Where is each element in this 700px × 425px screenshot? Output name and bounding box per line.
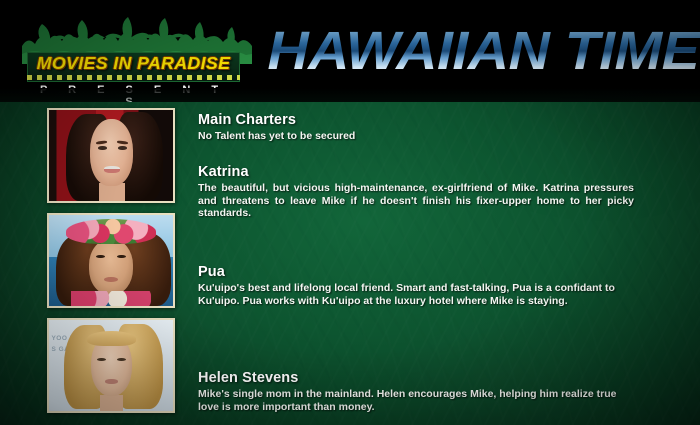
movie-title: HAWAIIAN TIME <box>248 18 700 84</box>
helen-stevens-photo-image: YOO IGN S GAT <box>49 320 173 411</box>
katrina-photo[interactable] <box>47 108 175 203</box>
movie-pitch-page: MOVIES IN PARADISE P R E S E N T S HAWAI… <box>0 0 700 425</box>
header-banner: MOVIES IN PARADISE P R E S E N T S HAWAI… <box>0 0 700 102</box>
character-name: Pua <box>198 264 618 281</box>
character-name: Helen Stevens <box>198 370 628 387</box>
character-name: Main Charters <box>198 112 634 129</box>
character-description: No Talent has yet to be secured <box>198 130 634 143</box>
film-strip-perforations-icon <box>27 75 240 80</box>
photo-column: YOO IGN S GAT <box>47 108 175 423</box>
flower-crown-icon <box>66 219 155 244</box>
katrina-photo-image <box>49 110 173 201</box>
character-description: Mike's single mom in the mainland. Helen… <box>198 388 628 413</box>
character-description: Ku'uipo's best and lifelong local friend… <box>198 282 618 307</box>
movies-in-paradise-logo[interactable]: MOVIES IN PARADISE <box>27 52 240 82</box>
character-name: Katrina <box>198 164 634 181</box>
character-block-katrina: Katrina The beautiful, but vicious high-… <box>198 164 634 220</box>
pua-photo-image <box>49 215 173 306</box>
header-fade <box>0 88 700 102</box>
character-block-helen-stevens: Helen Stevens Mike's single mom in the m… <box>198 370 628 413</box>
lei-icon <box>71 291 150 306</box>
character-block-main-charters: Main Charters No Talent has yet to be se… <box>198 112 634 143</box>
character-description: The beautiful, but vicious high-maintena… <box>198 182 634 220</box>
pua-photo[interactable] <box>47 213 175 308</box>
character-block-pua: Pua Ku'uipo's best and lifelong local fr… <box>198 264 618 307</box>
studio-logo-text: MOVIES IN PARADISE <box>25 53 242 74</box>
helen-stevens-photo[interactable]: YOO IGN S GAT <box>47 318 175 413</box>
